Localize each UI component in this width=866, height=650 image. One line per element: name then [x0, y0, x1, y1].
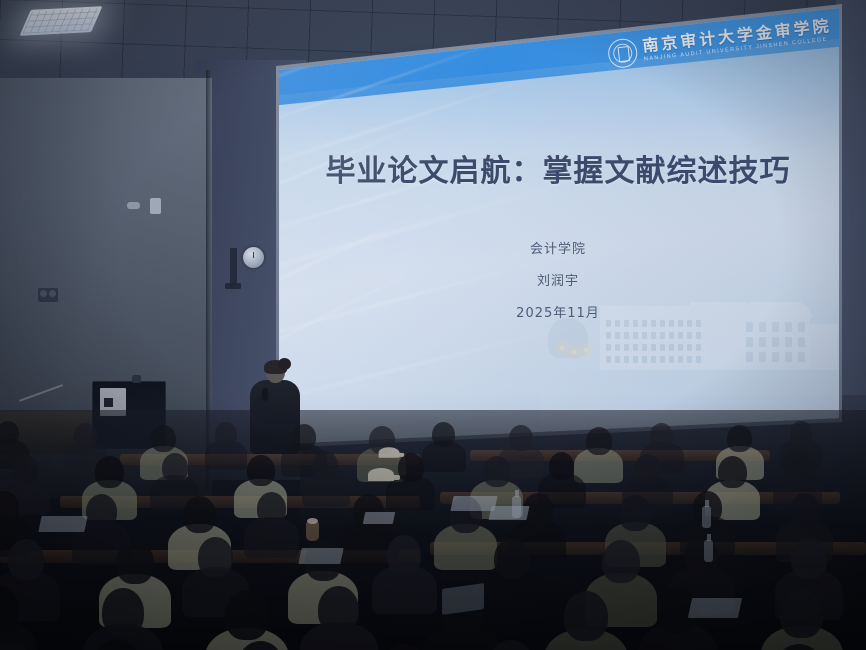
audience-head — [432, 422, 455, 447]
audience-head — [151, 425, 176, 452]
audience-head — [183, 496, 216, 533]
presentation-slide: 南京审计大学金审学院 NANJING AUDIT UNIVERSITY JINS… — [270, 4, 846, 450]
campus-window — [642, 332, 647, 339]
campus-window — [651, 320, 656, 327]
campus-window — [696, 344, 701, 351]
campus-window — [772, 352, 779, 362]
ceiling-light-panel — [20, 6, 103, 36]
audience-head — [650, 423, 673, 448]
campus-window — [696, 356, 701, 363]
campus-window — [642, 344, 647, 351]
audience-head — [634, 454, 661, 484]
wall-hook-icon — [127, 202, 140, 209]
campus-building-part — [548, 318, 588, 358]
wall-fixture-icon — [230, 248, 237, 288]
audience-head — [86, 494, 117, 529]
campus-window — [746, 352, 753, 362]
campus-window — [687, 356, 692, 363]
paper-sheet — [450, 496, 497, 511]
campus-window — [633, 320, 638, 327]
campus-window — [696, 320, 701, 327]
campus-window — [687, 332, 692, 339]
campus-window — [606, 356, 611, 363]
audience-head — [292, 424, 316, 450]
campus-window — [669, 332, 674, 339]
water-bottle — [512, 496, 521, 518]
audience-head — [95, 456, 124, 488]
lecture-hall-scene: 南京审计大学金审学院 NANJING AUDIT UNIVERSITY JINS… — [0, 0, 866, 650]
audience-head — [398, 453, 424, 482]
campus-window — [678, 332, 683, 339]
campus-window — [785, 352, 792, 362]
campus-window — [669, 320, 674, 327]
audience-head — [564, 591, 608, 641]
campus-window — [651, 356, 656, 363]
campus-window — [660, 332, 665, 339]
audience-head — [549, 452, 574, 480]
university-seal-icon — [607, 37, 639, 69]
audience-head — [11, 454, 38, 484]
campus-window — [678, 320, 683, 327]
water-bottle — [704, 540, 713, 562]
campus-window — [759, 337, 766, 347]
paper-sheet — [363, 512, 396, 524]
audience-head — [602, 540, 640, 583]
audience-seating — [0, 410, 866, 650]
audience-head — [780, 589, 823, 638]
campus-window — [651, 344, 656, 351]
campus-window — [687, 320, 692, 327]
audience-head — [198, 537, 233, 577]
audience-head — [619, 495, 651, 531]
wall-clock-icon — [243, 247, 264, 268]
audience-head — [318, 586, 359, 633]
campus-window — [624, 320, 629, 327]
audience-head — [215, 422, 237, 446]
paper-sheet — [298, 548, 343, 564]
power-outlet-icon — [38, 288, 58, 302]
handheld-microphone-icon — [262, 388, 268, 401]
campus-window — [669, 344, 674, 351]
campus-window — [660, 356, 665, 363]
wall-fixture-foot-icon — [225, 283, 241, 289]
audience-head — [727, 425, 752, 452]
audience-head — [790, 493, 820, 527]
campus-window — [651, 332, 656, 339]
audience-head — [483, 456, 511, 487]
paper-sheet — [688, 598, 742, 618]
campus-window — [606, 344, 611, 351]
campus-window — [772, 322, 779, 332]
audience-head — [225, 590, 269, 640]
campus-window — [615, 320, 620, 327]
campus-window — [660, 320, 665, 327]
audience-head — [785, 452, 811, 481]
campus-window — [798, 337, 805, 347]
presenter-hair-bun — [278, 358, 291, 370]
campus-window — [678, 356, 683, 363]
audience-head — [791, 538, 827, 579]
light-switch-plate-icon — [150, 198, 161, 214]
campus-window — [696, 332, 701, 339]
audience-head — [162, 453, 188, 482]
drink-cup — [306, 522, 319, 541]
audience-head — [0, 421, 19, 445]
campus-window — [633, 344, 638, 351]
campus-window — [785, 337, 792, 347]
campus-window — [798, 352, 805, 362]
streetlight-glow — [560, 346, 564, 350]
audience-head — [509, 425, 533, 451]
campus-window — [678, 344, 683, 351]
audience-head — [102, 588, 144, 636]
campus-window — [798, 322, 805, 332]
campus-window — [615, 356, 620, 363]
slide-subtitle-department: 会计学院 — [270, 238, 846, 257]
white-cap — [368, 468, 394, 481]
av-knob-icon — [132, 375, 141, 383]
audience-head — [257, 492, 286, 525]
streetlight-glow — [584, 348, 588, 352]
campus-window — [633, 332, 638, 339]
streetlight-glow — [572, 350, 576, 354]
projection-screen: 南京审计大学金审学院 NANJING AUDIT UNIVERSITY JINS… — [270, 4, 846, 450]
campus-window — [624, 332, 629, 339]
audience-head — [74, 423, 97, 448]
campus-window — [615, 332, 620, 339]
audience-head — [387, 535, 421, 574]
campus-window — [606, 332, 611, 339]
audience-head — [313, 451, 338, 479]
campus-window — [746, 337, 753, 347]
campus-window — [772, 337, 779, 347]
campus-window — [669, 356, 674, 363]
campus-window — [660, 344, 665, 351]
slide-subtitle-presenter: 刘润宇 — [270, 270, 846, 289]
water-bottle — [702, 506, 711, 528]
audience-head — [718, 456, 747, 488]
campus-window — [615, 344, 620, 351]
campus-window — [759, 352, 766, 362]
campus-window — [633, 356, 638, 363]
slide-subtitle-date: 2025年11月 — [270, 302, 846, 321]
campus-window — [759, 322, 766, 332]
audience-head — [790, 421, 812, 445]
campus-window — [746, 322, 753, 332]
audience-head — [586, 427, 612, 455]
campus-window — [624, 344, 629, 351]
audience-head — [116, 541, 154, 584]
slide-title: 毕业论文启航：掌握文献综述技巧 — [270, 146, 846, 190]
white-cap — [379, 447, 400, 457]
audience-head — [8, 539, 44, 580]
paper-sheet — [38, 516, 87, 532]
campus-window — [642, 320, 647, 327]
campus-window — [785, 322, 792, 332]
audience-head — [247, 455, 275, 486]
campus-window — [687, 344, 692, 351]
campus-window — [606, 320, 611, 327]
campus-building-part — [802, 324, 838, 370]
campus-window — [624, 356, 629, 363]
campus-window — [642, 356, 647, 363]
audience-head — [494, 538, 530, 579]
